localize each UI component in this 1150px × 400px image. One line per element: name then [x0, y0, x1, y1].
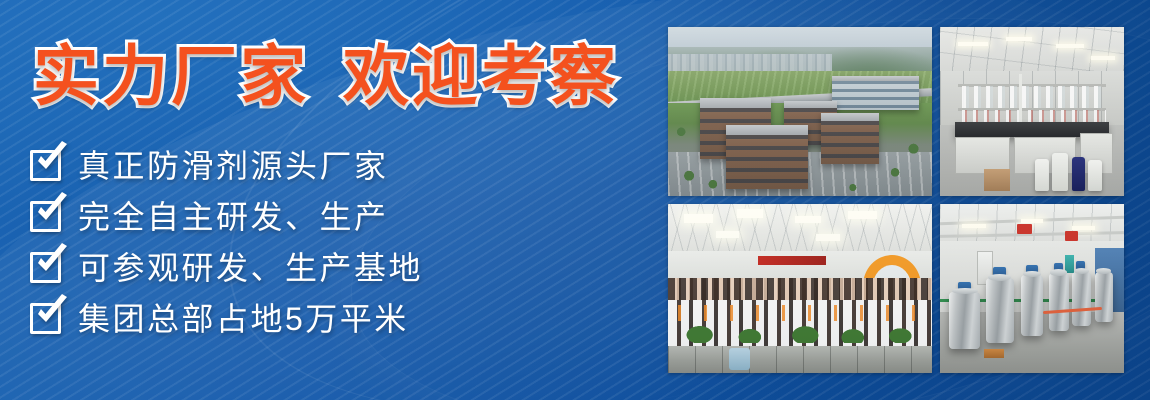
promo-banner: 实力厂家 欢迎考察 真正防滑剂源头厂家 完全自主研发、生产	[0, 0, 1150, 400]
headline: 实力厂家 欢迎考察	[33, 43, 619, 109]
checkbox-check-icon	[30, 201, 61, 232]
checkbox-check-icon	[30, 303, 61, 334]
feature-label: 可参观研发、生产基地	[78, 252, 423, 284]
text-column: 实力厂家 欢迎考察 真正防滑剂源头厂家 完全自主研发、生产	[0, 0, 660, 400]
feature-item: 集团总部占地5万平米	[30, 296, 423, 341]
checkbox-check-icon	[30, 252, 61, 283]
photo-production-line	[940, 204, 1124, 373]
photo-grid	[668, 27, 1124, 373]
headline-part-1: 实力厂家	[33, 43, 309, 109]
photo-office-staff	[668, 204, 932, 373]
feature-item: 真正防滑剂源头厂家	[30, 143, 423, 188]
feature-label: 真正防滑剂源头厂家	[78, 150, 389, 182]
feature-item: 完全自主研发、生产	[30, 194, 423, 239]
feature-list: 真正防滑剂源头厂家 完全自主研发、生产 可参观研发、生产基地	[30, 143, 423, 341]
feature-label: 集团总部占地5万平米	[78, 303, 409, 335]
headline-part-2: 欢迎考察	[343, 43, 619, 109]
feature-label: 完全自主研发、生产	[78, 201, 389, 233]
feature-item: 可参观研发、生产基地	[30, 245, 423, 290]
checkbox-check-icon	[30, 150, 61, 181]
photo-campus-aerial	[668, 27, 932, 196]
photo-laboratory	[940, 27, 1124, 196]
